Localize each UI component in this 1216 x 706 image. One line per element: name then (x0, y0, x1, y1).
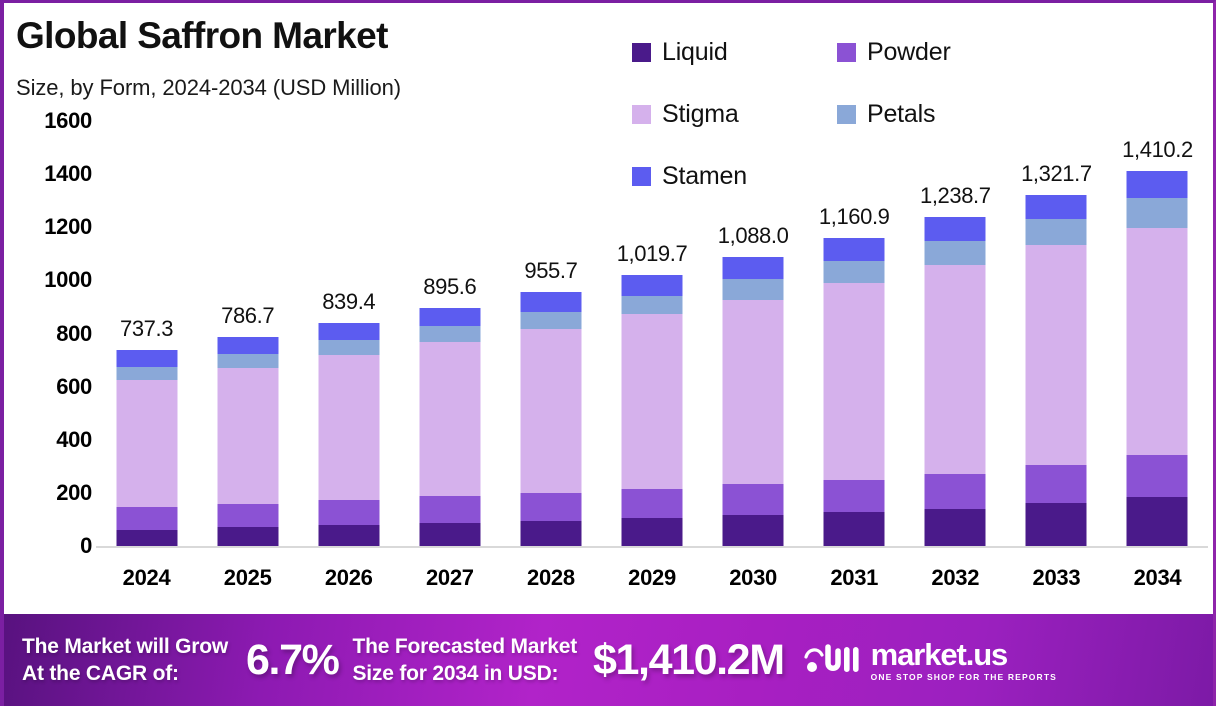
bar-group[interactable]: 737.3 (96, 121, 197, 546)
bar-segment-powder[interactable] (217, 504, 278, 528)
bar-segment-stamen[interactable] (723, 257, 784, 279)
y-axis-tick-label: 800 (10, 321, 92, 347)
bar-segment-liquid[interactable] (1026, 503, 1087, 546)
bar-segment-stamen[interactable] (622, 275, 683, 296)
chart-header: Global Saffron Market Size, by Form, 202… (4, 3, 1216, 121)
bar-segment-liquid[interactable] (116, 530, 177, 546)
bar-segment-petals[interactable] (419, 326, 480, 342)
bar-segment-stigma[interactable] (723, 300, 784, 485)
bar-value-label: 1,410.2 (1122, 137, 1193, 163)
bar-segment-powder[interactable] (520, 493, 581, 521)
bar-segment-liquid[interactable] (925, 509, 986, 546)
bar-segment-stigma[interactable] (520, 329, 581, 493)
brand-tagline: ONE STOP SHOP FOR THE REPORTS (871, 672, 1057, 682)
bar-stack[interactable] (217, 337, 278, 546)
bar-segment-stigma[interactable] (622, 314, 683, 488)
x-axis-tick-label: 2027 (399, 551, 500, 597)
bar-segment-liquid[interactable] (824, 512, 885, 546)
x-axis-tick-label: 2030 (703, 551, 804, 597)
bar-segment-powder[interactable] (419, 496, 480, 523)
legend-label: Powder (867, 38, 951, 67)
cagr-label: The Market will Grow At the CAGR of: (22, 633, 228, 687)
bar-value-label: 1,160.9 (819, 204, 890, 230)
bar-segment-stamen[interactable] (116, 350, 177, 367)
bar-segment-powder[interactable] (925, 474, 986, 509)
bar-segment-stamen[interactable] (419, 308, 480, 326)
chart-subtitle: Size, by Form, 2024-2034 (USD Million) (16, 75, 401, 101)
bar-segment-stamen[interactable] (1127, 171, 1188, 198)
bar-segment-petals[interactable] (116, 367, 177, 380)
cagr-label-line1: The Market will Grow (22, 633, 228, 660)
x-axis-labels: 2024202520262027202820292030203120322033… (96, 551, 1208, 597)
legend-item-liquid[interactable]: Liquid (632, 21, 837, 83)
bar-stack[interactable] (520, 292, 581, 546)
bar-value-label: 839.4 (322, 289, 375, 315)
x-axis-tick-label: 2024 (96, 551, 197, 597)
bar-segment-petals[interactable] (925, 241, 986, 265)
y-axis-tick-label: 400 (10, 427, 92, 453)
bar-segment-liquid[interactable] (419, 523, 480, 546)
y-axis-tick-label: 600 (10, 374, 92, 400)
bar-segment-powder[interactable] (622, 489, 683, 518)
y-axis: 16001400120010008006004002000 (4, 121, 92, 611)
bar-segment-stigma[interactable] (217, 368, 278, 503)
legend-swatch-icon (632, 43, 651, 62)
bar-group[interactable]: 1,088.0 (703, 121, 804, 546)
bar-value-label: 737.3 (120, 316, 173, 342)
bar-group[interactable]: 895.6 (399, 121, 500, 546)
x-axis-tick-label: 2025 (197, 551, 298, 597)
bar-segment-liquid[interactable] (318, 525, 379, 546)
forecast-value: $1,410.2M (593, 636, 784, 685)
bar-group[interactable]: 955.7 (500, 121, 601, 546)
x-axis-tick-label: 2026 (298, 551, 399, 597)
bar-segment-liquid[interactable] (217, 527, 278, 546)
bar-value-label: 1,088.0 (718, 223, 789, 249)
y-axis-tick-label: 1200 (10, 214, 92, 240)
x-axis-tick-label: 2031 (804, 551, 905, 597)
bar-segment-petals[interactable] (217, 354, 278, 368)
bar-segment-stamen[interactable] (925, 217, 986, 241)
y-axis-tick-label: 0 (10, 533, 92, 559)
chart-infographic: Global Saffron Market Size, by Form, 202… (0, 0, 1216, 706)
y-axis-tick-label: 1400 (10, 161, 92, 187)
forecast-label-line2: Size for 2034 in USD: (352, 660, 577, 687)
bar-segment-petals[interactable] (318, 340, 379, 355)
forecast-label-line1: The Forecasted Market (352, 633, 577, 660)
bar-segment-petals[interactable] (723, 279, 784, 299)
plot-area: 16001400120010008006004002000 737.3786.7… (4, 121, 1216, 611)
bar-stack[interactable] (318, 323, 379, 546)
legend-swatch-icon (837, 43, 856, 62)
bar-value-label: 1,321.7 (1021, 161, 1092, 187)
footer-banner: The Market will Grow At the CAGR of: 6.7… (4, 614, 1216, 706)
bar-segment-stigma[interactable] (1127, 228, 1188, 455)
bar-segment-liquid[interactable] (622, 518, 683, 546)
bar-value-label: 955.7 (524, 258, 577, 284)
bar-segment-petals[interactable] (1127, 198, 1188, 228)
x-axis-tick-label: 2034 (1107, 551, 1208, 597)
bar-stack[interactable] (925, 217, 986, 546)
x-axis-tick-label: 2029 (601, 551, 702, 597)
y-axis-tick-label: 1000 (10, 267, 92, 293)
x-axis-line (96, 546, 1208, 548)
bar-segment-petals[interactable] (824, 261, 885, 283)
bar-stack[interactable] (824, 238, 885, 546)
bar-group[interactable]: 1,238.7 (905, 121, 1006, 546)
bar-stack[interactable] (1127, 171, 1188, 546)
bar-segment-stigma[interactable] (419, 342, 480, 496)
bar-value-label: 1,238.7 (920, 183, 991, 209)
bar-series-container: 737.3786.7839.4895.6955.71,019.71,088.01… (96, 121, 1208, 546)
bar-segment-stamen[interactable] (217, 337, 278, 354)
bar-stack[interactable] (419, 308, 480, 546)
bar-segment-stigma[interactable] (824, 283, 885, 480)
bar-value-label: 1,019.7 (617, 241, 688, 267)
x-axis-tick-label: 2028 (500, 551, 601, 597)
bar-value-label: 895.6 (423, 274, 476, 300)
bar-stack[interactable] (723, 257, 784, 546)
bar-segment-liquid[interactable] (1127, 497, 1188, 546)
cagr-label-line2: At the CAGR of: (22, 660, 228, 687)
bar-value-label: 786.7 (221, 303, 274, 329)
bar-group[interactable]: 839.4 (298, 121, 399, 546)
bar-segment-stigma[interactable] (318, 355, 379, 500)
bar-stack[interactable] (622, 275, 683, 546)
bar-group[interactable]: 786.7 (197, 121, 298, 546)
cagr-value: 6.7% (246, 636, 338, 685)
brand-logo[interactable]: market.us ONE STOP SHOP FOR THE REPORTS (804, 639, 1057, 682)
bar-segment-stamen[interactable] (318, 323, 379, 340)
brand-name: market.us (871, 639, 1057, 670)
x-axis-tick-label: 2033 (1006, 551, 1107, 597)
bar-segment-stigma[interactable] (925, 265, 986, 474)
bar-segment-powder[interactable] (1127, 455, 1188, 496)
bar-segment-stamen[interactable] (1026, 195, 1087, 219)
bar-segment-powder[interactable] (824, 480, 885, 512)
legend-item-powder[interactable]: Powder (837, 21, 1042, 83)
bar-group[interactable]: 1,160.9 (804, 121, 905, 546)
bar-segment-stigma[interactable] (116, 380, 177, 507)
bar-group[interactable]: 1,321.7 (1006, 121, 1107, 546)
bar-segment-liquid[interactable] (520, 521, 581, 547)
bar-segment-petals[interactable] (622, 296, 683, 315)
y-axis-tick-label: 200 (10, 480, 92, 506)
brand-text: market.us ONE STOP SHOP FOR THE REPORTS (871, 639, 1057, 682)
bar-segment-petals[interactable] (520, 312, 581, 329)
market-us-logo-icon (804, 643, 862, 677)
forecast-label: The Forecasted Market Size for 2034 in U… (352, 633, 577, 687)
x-axis-tick-label: 2032 (905, 551, 1006, 597)
y-axis-tick-label: 1600 (10, 108, 92, 134)
bar-segment-powder[interactable] (723, 484, 784, 515)
page-title: Global Saffron Market (16, 15, 388, 57)
bar-stack[interactable] (116, 350, 177, 546)
bar-stack[interactable] (1026, 195, 1087, 546)
bar-segment-liquid[interactable] (723, 515, 784, 546)
bar-group[interactable]: 1,019.7 (601, 121, 702, 546)
bar-segment-powder[interactable] (116, 507, 177, 530)
bar-segment-powder[interactable] (318, 500, 379, 525)
bar-segment-powder[interactable] (1026, 465, 1087, 503)
bar-group[interactable]: 1,410.2 (1107, 121, 1208, 546)
bar-segment-stamen[interactable] (520, 292, 581, 312)
bar-segment-petals[interactable] (1026, 219, 1087, 245)
bar-segment-stamen[interactable] (824, 238, 885, 261)
legend-label: Liquid (662, 38, 728, 67)
bar-segment-stigma[interactable] (1026, 245, 1087, 465)
